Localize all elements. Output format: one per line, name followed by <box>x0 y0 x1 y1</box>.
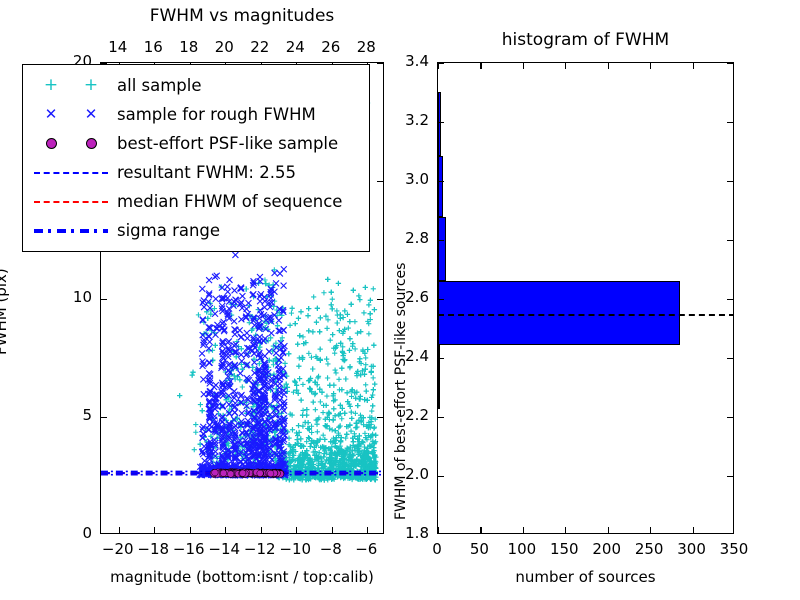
tick-label: 24 <box>286 38 305 56</box>
figure-canvas: FWHM vs magnitudes 1416182022242628 −20−… <box>0 0 800 600</box>
tick-mark <box>480 527 481 533</box>
legend-circle-marker <box>31 138 111 149</box>
tick-mark <box>101 417 107 418</box>
tick-mark <box>727 63 733 64</box>
histogram-axes[interactable] <box>437 62 734 534</box>
legend-dashed-line <box>31 172 111 174</box>
tick-label: 1.8 <box>405 524 429 542</box>
tick-mark <box>261 527 262 533</box>
tick-mark <box>377 63 383 64</box>
tick-label: 250 <box>635 540 664 558</box>
histogram-bar <box>438 156 443 217</box>
legend-dash-dot-line <box>31 229 111 233</box>
tick-mark <box>523 63 524 69</box>
resultant-fwhm-line <box>438 314 734 316</box>
tick-mark <box>727 240 733 241</box>
tick-label: 16 <box>144 38 163 56</box>
tick-label: −8 <box>320 540 342 558</box>
legend-item[interactable]: best-effort PSF-like sample <box>31 129 361 158</box>
legend-label: all sample <box>111 76 202 95</box>
tick-mark <box>190 527 191 533</box>
tick-label: −20 <box>102 540 134 558</box>
legend-label: median FHWM of sequence <box>111 192 342 211</box>
tick-label: −12 <box>244 540 276 558</box>
tick-label: 22 <box>250 38 269 56</box>
tick-mark <box>367 527 368 533</box>
tick-mark <box>119 527 120 533</box>
left-plot-title: FWHM vs magnitudes <box>100 6 384 26</box>
tick-mark <box>727 476 733 477</box>
histogram-bar <box>438 217 446 281</box>
tick-mark <box>438 122 444 123</box>
tick-label: 100 <box>508 540 537 558</box>
legend-label: sigma range <box>111 221 220 240</box>
tick-mark <box>438 299 444 300</box>
tick-label: 0 <box>82 524 92 542</box>
tick-label: −16 <box>173 540 205 558</box>
right-plot-title: histogram of FWHM <box>437 30 734 50</box>
right-ylabel: FWHM of best-effort PSF-like sources <box>393 263 409 520</box>
tick-mark <box>101 299 107 300</box>
tick-mark <box>438 476 444 477</box>
tick-mark <box>332 527 333 533</box>
tick-label: −18 <box>137 540 169 558</box>
tick-mark <box>438 63 444 64</box>
tick-mark <box>727 122 733 123</box>
tick-label: 3.2 <box>405 111 429 129</box>
tick-label: 10 <box>73 288 92 306</box>
tick-mark <box>377 299 383 300</box>
legend-label: best-effort PSF-like sample <box>111 134 338 153</box>
histogram-bar <box>438 92 441 156</box>
tick-label: 300 <box>677 540 706 558</box>
tick-mark <box>438 417 444 418</box>
tick-mark <box>296 527 297 533</box>
tick-mark <box>693 527 694 533</box>
tick-label: 2.8 <box>405 229 429 247</box>
histogram-bar <box>438 345 440 409</box>
tick-mark <box>438 181 444 182</box>
tick-label: 150 <box>550 540 579 558</box>
legend-item[interactable]: sigma range <box>31 216 361 245</box>
tick-mark <box>650 63 651 69</box>
tick-mark <box>608 63 609 69</box>
right-xlabel: number of sources <box>437 568 734 586</box>
tick-mark <box>377 181 383 182</box>
tick-label: −6 <box>355 540 377 558</box>
tick-mark <box>693 63 694 69</box>
tick-label: 0 <box>432 540 442 558</box>
tick-label: 18 <box>179 38 198 56</box>
tick-label: 14 <box>108 38 127 56</box>
legend-item[interactable]: ✕✕sample for rough FWHM <box>31 100 361 129</box>
legend-item[interactable]: median FHWM of sequence <box>31 187 361 216</box>
tick-label: 350 <box>720 540 749 558</box>
tick-mark <box>154 527 155 533</box>
tick-mark <box>225 527 226 533</box>
left-ylabel: FWHM (pix) <box>0 268 10 355</box>
tick-mark <box>650 527 651 533</box>
tick-label: 50 <box>470 540 489 558</box>
tick-mark <box>480 63 481 69</box>
legend-item[interactable]: ++all sample <box>31 71 361 100</box>
tick-label: 200 <box>592 540 621 558</box>
tick-mark <box>438 527 439 533</box>
tick-mark <box>438 240 444 241</box>
tick-label: 3.4 <box>405 52 429 70</box>
tick-mark <box>608 527 609 533</box>
tick-mark <box>377 417 383 418</box>
tick-label: 20 <box>215 38 234 56</box>
tick-label: 3.0 <box>405 170 429 188</box>
tick-mark <box>565 527 566 533</box>
legend-label: sample for rough FWHM <box>111 105 316 124</box>
legend-dashed-line <box>31 201 111 203</box>
tick-mark <box>727 299 733 300</box>
tick-label: −14 <box>208 540 240 558</box>
legend-label: resultant FWHM: 2.55 <box>111 163 296 182</box>
tick-mark <box>727 358 733 359</box>
tick-label: −10 <box>279 540 311 558</box>
legend-plus-marker: ++ <box>31 77 111 94</box>
tick-mark <box>727 181 733 182</box>
tick-label: 26 <box>321 38 340 56</box>
tick-label: 5 <box>82 406 92 424</box>
tick-label: 28 <box>357 38 376 56</box>
tick-mark <box>565 63 566 69</box>
tick-mark <box>438 358 444 359</box>
legend-x-marker: ✕✕ <box>31 107 111 122</box>
legend-box[interactable]: ++all sample✕✕sample for rough FWHMbest-… <box>22 64 370 252</box>
left-xlabel: magnitude (bottom:isnt / top:calib) <box>100 568 384 586</box>
legend-item[interactable]: resultant FWHM: 2.55 <box>31 158 361 187</box>
tick-mark <box>727 417 733 418</box>
tick-mark <box>523 527 524 533</box>
